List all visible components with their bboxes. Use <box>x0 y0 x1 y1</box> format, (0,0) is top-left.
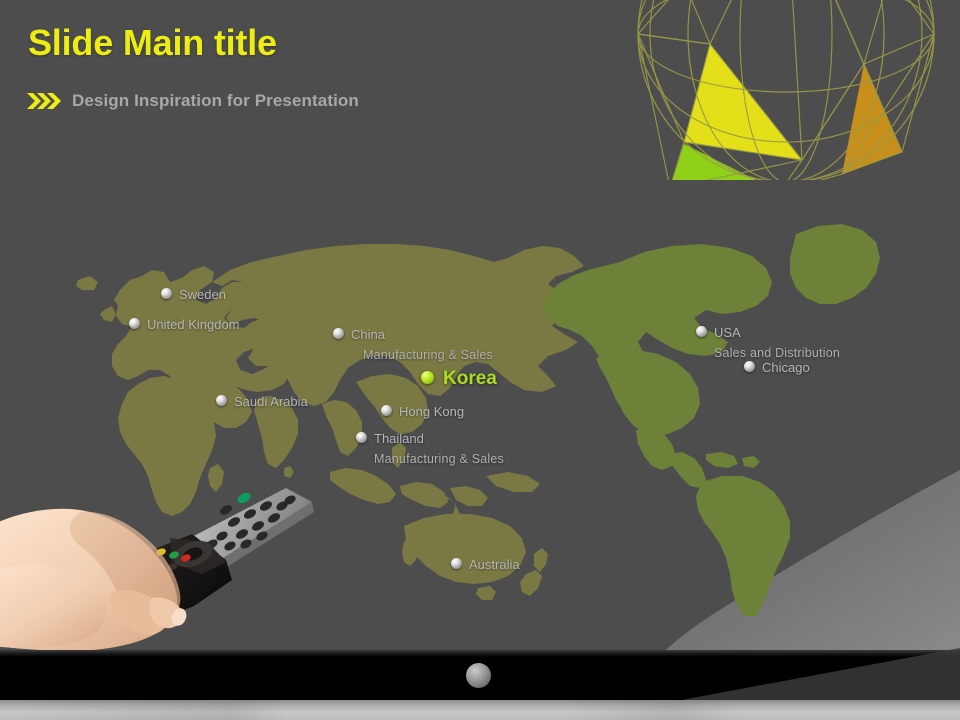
marker-label: Korea <box>443 368 497 389</box>
hand <box>0 509 189 651</box>
marker-label: United Kingdom <box>147 317 240 332</box>
remote-power-key <box>236 491 253 506</box>
marker-dot-highlight-icon <box>421 371 434 384</box>
page-title: Slide Main title <box>28 22 277 64</box>
page-subtitle: Design Inspiration for Presentation <box>72 91 359 111</box>
marker-dot-icon <box>333 328 344 339</box>
marker-dot-icon <box>696 326 707 337</box>
marker-sublabel: Manufacturing & Sales <box>374 452 504 466</box>
hand-holding-tv-remote-photo <box>0 476 320 656</box>
marker-label: Sweden <box>179 287 226 302</box>
map-marker-hong-kong[interactable]: Hong Kong <box>381 402 464 422</box>
marker-label: Chicago <box>762 360 810 375</box>
map-marker-korea[interactable]: Korea <box>421 367 497 390</box>
triple-chevron-right-icon <box>26 92 62 110</box>
marker-sublabel: Manufacturing & Sales <box>363 348 493 362</box>
subtitle-row: Design Inspiration for Presentation <box>26 91 359 111</box>
marker-dot-icon <box>161 288 172 299</box>
landmass-americas <box>544 224 880 616</box>
marker-label: Thailand <box>374 431 424 446</box>
map-marker-saudi-arabia[interactable]: Saudi Arabia <box>216 392 308 412</box>
marker-label: Australia <box>469 557 520 572</box>
marker-label: Hong Kong <box>399 404 464 419</box>
marker-label: Saudi Arabia <box>234 394 308 409</box>
map-marker-thailand[interactable]: Thailand Manufacturing & Sales <box>356 429 504 468</box>
map-marker-united-kingdom[interactable]: United Kingdom <box>129 315 240 335</box>
marker-dot-icon <box>744 361 755 372</box>
marker-label: USA <box>714 325 741 340</box>
map-marker-sweden[interactable]: Sweden <box>161 285 226 305</box>
presentation-slide: Sweden United Kingdom China Manufacturin… <box>0 0 960 720</box>
marker-dot-icon <box>129 318 140 329</box>
marker-dot-icon <box>381 405 392 416</box>
marker-label: China <box>351 327 385 342</box>
tv-stand-reflection <box>0 700 960 720</box>
marker-dot-icon <box>356 432 367 443</box>
map-marker-china[interactable]: China Manufacturing & Sales <box>333 325 493 364</box>
map-marker-australia[interactable]: Australia <box>451 555 520 575</box>
map-marker-chicago[interactable]: Chicago <box>744 358 810 378</box>
tv-bezel-highlight <box>0 650 960 657</box>
map-marker-usa[interactable]: USA Sales and Distribution <box>696 323 840 362</box>
wireframe-polygon-globe-icon <box>612 0 960 180</box>
orange-facet <box>842 64 902 174</box>
tv-power-button[interactable] <box>466 663 491 688</box>
marker-dot-icon <box>216 395 227 406</box>
marker-dot-icon <box>451 558 462 569</box>
yellow-facet <box>684 44 802 160</box>
